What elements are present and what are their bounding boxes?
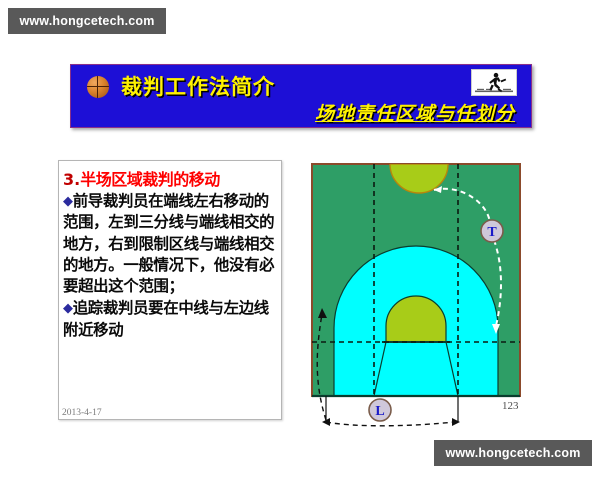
basketball-court-diagram: T L <box>308 160 546 428</box>
court-svg: T L <box>308 160 546 428</box>
watermark-bottom: www.hongcetech.com <box>434 440 592 466</box>
diamond-bullet-icon: ◆ <box>63 194 73 209</box>
slide-date: 2013-4-17 <box>62 408 102 418</box>
page-title: 裁判工作法简介 <box>121 71 275 101</box>
section-heading: 3.半场区域裁判的移动 <box>63 166 279 190</box>
section-heading-text: 半场区域裁判的移动 <box>80 170 220 189</box>
slide-canvas: 裁判工作法简介 场地责任区域与任划分 <box>40 50 560 440</box>
lead-referee-range-measure <box>326 422 454 426</box>
section-heading-number: 3. <box>63 170 80 189</box>
title-banner: 裁判工作法简介 场地责任区域与任划分 <box>70 64 532 128</box>
paragraph-1-text: 前导裁判员在端线左右移动的范围，左到三分线与端线相交的地方，右到限制区线与端线相… <box>63 192 274 295</box>
paragraph-2-text: 追踪裁判员要在中线与左边线附近移动 <box>63 299 269 338</box>
paragraph-1: ◆前导裁判员在端线左右移动的范围，左到三分线与端线相交的地方，右到限制区线与端线… <box>63 191 277 297</box>
page-subtitle: 场地责任区域与任划分 <box>315 99 515 126</box>
body-text: ◆前导裁判员在端线左右移动的范围，左到三分线与端线相交的地方，右到限制区线与端线… <box>63 191 277 342</box>
basketball-icon <box>87 76 109 98</box>
measure-arrow-head-right <box>452 418 460 426</box>
diamond-bullet-icon: ◆ <box>63 301 73 316</box>
paragraph-2: ◆追踪裁判员要在中线与左边线附近移动 <box>63 298 277 341</box>
lead-referee-marker-label: L <box>375 404 384 419</box>
watermark-top: www.hongcetech.com <box>8 8 166 34</box>
trail-referee-marker-label: T <box>487 225 497 240</box>
running-person-icon <box>471 69 517 96</box>
running-person-svg <box>472 70 516 95</box>
content-text-panel: 3.半场区域裁判的移动 ◆前导裁判员在端线左右移动的范围，左到三分线与端线相交的… <box>58 160 282 420</box>
